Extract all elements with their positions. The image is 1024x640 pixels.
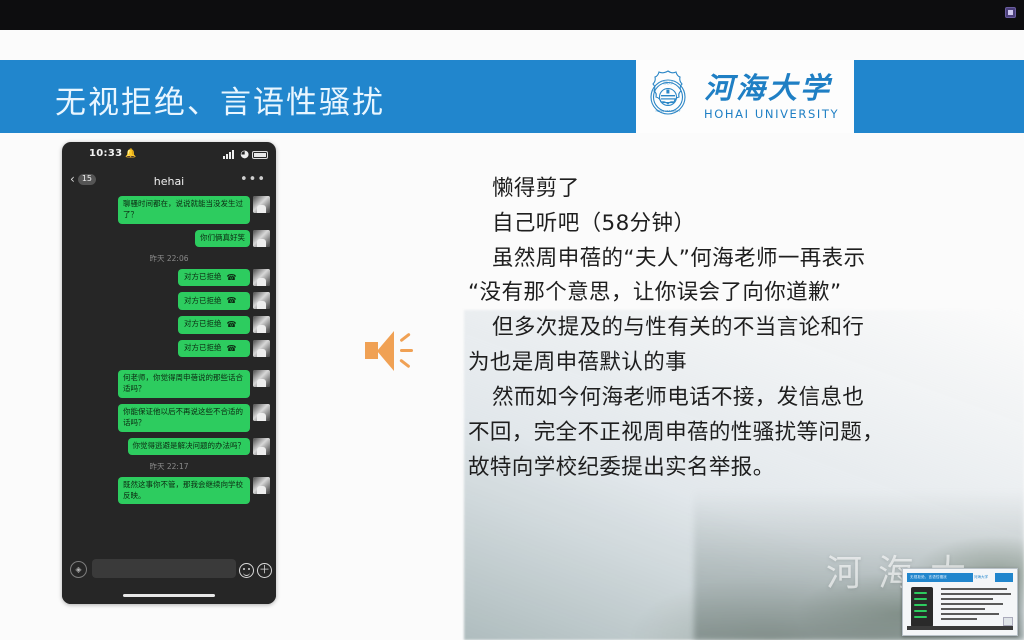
logo-name-cn: 河海大学 (704, 74, 839, 103)
chat-message: 对方已拒绝 ☎ (68, 316, 270, 334)
phone-chat-screenshot: 10:33 🔔 ◕ ‹ 15 hehai ••• 聊骚时间都在，说说就能当没发生… (62, 142, 276, 604)
body-line: 不回，完全不正视周申蓓的性骚扰等问题， (468, 416, 1008, 451)
avatar (253, 438, 270, 455)
call-rejected-bubble: 对方已拒绝 ☎ (178, 316, 250, 334)
chat-message: 对方已拒绝 ☎ (68, 292, 270, 310)
mute-bell-icon: 🔔 (125, 149, 136, 159)
phone-call-icon: ☎ (227, 295, 237, 307)
voice-record-icon[interactable]: ◈ (70, 561, 87, 578)
call-rejected-bubble: 对方已拒绝 ☎ (178, 269, 250, 287)
call-rejected-label: 对方已拒绝 (184, 319, 222, 330)
thumbnail-header-band: 无视拒绝、言语性骚扰 (907, 573, 1013, 582)
battery-icon (252, 151, 268, 159)
thumbnail-logo-notch: 河海大学 (973, 573, 995, 582)
avatar (253, 292, 270, 309)
phone-call-icon: ☎ (227, 272, 237, 284)
call-rejected-bubble: 对方已拒绝 ☎ (178, 340, 250, 358)
body-line: 然而如今何海老师电话不接，发信息也 (468, 381, 1008, 416)
chat-message: 你能保证他以后不再说这些不合适的话吗？ (68, 404, 270, 432)
chat-message: 你觉得逃避是解决问题的办法吗？ (68, 438, 270, 455)
message-bubble: 既然这事你不管，那我会继续向学校反映。 (118, 477, 250, 505)
phone-input-bar: ◈ ＋ (62, 548, 276, 604)
chat-message-list[interactable]: 聊骚时间都在，说说就能当没发生过了？ 你们俩真好笑 昨天 22:06 对方已拒绝… (62, 192, 276, 548)
phone-status-bar: 10:33 🔔 ◕ (62, 142, 276, 168)
phone-call-icon: ☎ (227, 319, 237, 331)
slide-canvas: 河海大 无视拒绝、言语性骚扰 (0, 30, 1024, 640)
message-bubble: 你觉得逃避是解决问题的办法吗？ (128, 438, 251, 455)
avatar (253, 340, 270, 357)
university-logo: 河海大学 HOHAI UNIVERSITY 河海大学 HOHAI UNIVERS… (640, 66, 850, 128)
presenter-thumbnail[interactable]: 无视拒绝、言语性骚扰 河海大学 (902, 568, 1018, 636)
body-line: 虽然周申蓓的“夫人”何海老师一再表示 (468, 242, 1008, 277)
add-attachment-icon[interactable]: ＋ (257, 563, 272, 578)
thumbnail-corner-overlay (1003, 617, 1013, 626)
message-bubble: 何老师，你觉得周申蓓说的那些话合适吗？ (118, 370, 250, 398)
thumbnail-footer-bar (907, 626, 1013, 630)
avatar (253, 316, 270, 333)
app-indicator-icon[interactable] (1005, 7, 1016, 18)
hohai-university-seal-icon: 河海大学 HOHAI UNIVERSITY (640, 69, 696, 125)
chat-message: 你们俩真好笑 (68, 230, 270, 247)
signal-bars-icon (223, 150, 234, 159)
svg-text:HOHAI UNIVERSITY: HOHAI UNIVERSITY (656, 109, 681, 113)
body-line: “没有那个意思，让你误会了向你道歉” (468, 276, 1008, 311)
logo-name-en: HOHAI UNIVERSITY (704, 107, 839, 121)
body-line: 自己听吧（58分钟） (468, 207, 1008, 242)
emoji-icon[interactable] (239, 563, 254, 578)
speaker-audio-icon[interactable] (360, 325, 420, 377)
body-line: 但多次提及的与性有关的不当言论和行 (468, 311, 1008, 346)
wifi-icon: ◕ (240, 149, 249, 160)
avatar (253, 230, 270, 247)
chat-timestamp: 昨天 22:17 (68, 461, 270, 472)
chat-message: 既然这事你不管，那我会继续向学校反映。 (68, 477, 270, 505)
message-bubble: 你们俩真好笑 (195, 230, 250, 247)
slide-body-text: 懒得剪了 自己听吧（58分钟） 虽然周申蓓的“夫人”何海老师一再表示 “没有那个… (468, 172, 1008, 485)
chat-timestamp: 昨天 22:06 (68, 253, 270, 264)
thumbnail-logo-text: 河海大学 (974, 575, 988, 580)
avatar (253, 404, 270, 421)
call-rejected-label: 对方已拒绝 (184, 343, 222, 354)
avatar (253, 196, 270, 213)
avatar (253, 269, 270, 286)
avatar (253, 370, 270, 387)
thumbnail-title: 无视拒绝、言语性骚扰 (910, 575, 947, 580)
message-bubble: 聊骚时间都在，说说就能当没发生过了？ (118, 196, 250, 224)
sound-wave (399, 359, 410, 368)
chat-message: 聊骚时间都在，说说就能当没发生过了？ (68, 196, 270, 224)
more-options-icon[interactable]: ••• (240, 172, 266, 187)
thumbnail-phone-image (911, 587, 933, 627)
svg-text:河海大学: 河海大学 (663, 81, 674, 85)
chat-message: 对方已拒绝 ☎ (68, 340, 270, 358)
avatar (253, 477, 270, 494)
sound-wave (400, 349, 413, 352)
chat-message: 何老师，你觉得周申蓓说的那些话合适吗？ (68, 370, 270, 398)
slide-title: 无视拒绝、言语性骚扰 (55, 77, 385, 122)
speaker-cone (377, 331, 394, 371)
call-rejected-label: 对方已拒绝 (184, 296, 222, 307)
message-bubble: 你能保证他以后不再说这些不合适的话吗？ (118, 404, 250, 432)
home-indicator (123, 594, 215, 598)
call-rejected-label: 对方已拒绝 (184, 272, 222, 283)
message-input[interactable] (92, 559, 236, 578)
phone-nav-bar: ‹ 15 hehai ••• (62, 168, 276, 192)
video-top-bar (0, 0, 1024, 30)
body-line: 懒得剪了 (468, 172, 1008, 207)
status-time: 10:33 (89, 148, 122, 159)
thumbnail-text-lines (941, 588, 1011, 623)
body-line: 为也是周申蓓默认的事 (468, 346, 1008, 381)
screen: 河海大 无视拒绝、言语性骚扰 (0, 0, 1024, 640)
body-line: 故特向学校纪委提出实名举报。 (468, 451, 1008, 486)
sound-wave (399, 333, 410, 342)
chat-message: 对方已拒绝 ☎ (68, 269, 270, 287)
call-rejected-bubble: 对方已拒绝 ☎ (178, 292, 250, 310)
phone-call-icon: ☎ (227, 343, 237, 355)
